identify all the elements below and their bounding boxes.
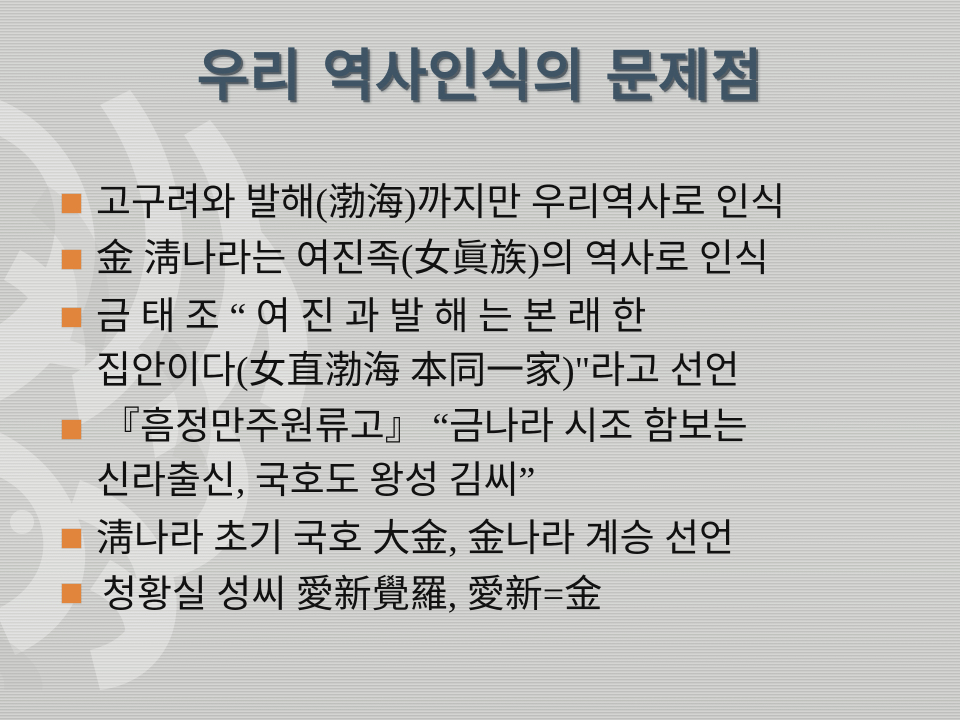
list-item-line: 금 태 조 “ 여 진 과 발 해 는 본 래 한 <box>96 290 916 344</box>
list-item: 금 태 조 “ 여 진 과 발 해 는 본 래 한 집안이다(女直渤海 本同一家… <box>0 290 960 398</box>
bullet-square-icon <box>62 308 81 327</box>
list-item: 淸나라 초기 국호 大金, 金나라 계승 선언 <box>0 512 960 566</box>
list-item-line: 신라출신, 국호도 왕성 김씨” <box>96 454 916 508</box>
list-item-line: 金 淸나라는 여진족(女眞族)의 역사로 인식 <box>96 232 916 286</box>
slide-title-container: 우리 역사인식의 문제점 <box>0 46 960 108</box>
bullet-square-icon <box>62 194 81 213</box>
presentation-slide: 우리 역사인식의 문제점 고구려와 발해(渤海)까지만 우리역사로 인식 金 淸… <box>0 0 960 720</box>
list-item: 金 淸나라는 여진족(女眞族)의 역사로 인식 <box>0 232 960 286</box>
bullet-list: 고구려와 발해(渤海)까지만 우리역사로 인식 金 淸나라는 여진족(女眞族)의… <box>0 176 960 622</box>
slide-title: 우리 역사인식의 문제점 <box>197 46 763 108</box>
bullet-square-icon <box>62 250 81 269</box>
list-item-line: 고구려와 발해(渤海)까지만 우리역사로 인식 <box>96 176 916 230</box>
bullet-square-icon <box>62 420 81 439</box>
list-item-line: 청황실 성씨 愛新覺羅, 愛新=金 <box>96 568 916 622</box>
list-item: 『흠정만주원류고』 “금나라 시조 함보는 신라출신, 국호도 왕성 김씨” <box>0 400 960 508</box>
list-item-line: 淸나라 초기 국호 大金, 金나라 계승 선언 <box>96 512 916 566</box>
list-item: 청황실 성씨 愛新覺羅, 愛新=金 <box>0 568 960 622</box>
bullet-square-icon <box>62 584 81 603</box>
list-item-line: 『흠정만주원류고』 “금나라 시조 함보는 <box>96 400 916 454</box>
bullet-square-icon <box>62 529 81 548</box>
list-item: 고구려와 발해(渤海)까지만 우리역사로 인식 <box>0 176 960 230</box>
list-item-line: 집안이다(女直渤海 本同一家)"라고 선언 <box>96 344 916 398</box>
